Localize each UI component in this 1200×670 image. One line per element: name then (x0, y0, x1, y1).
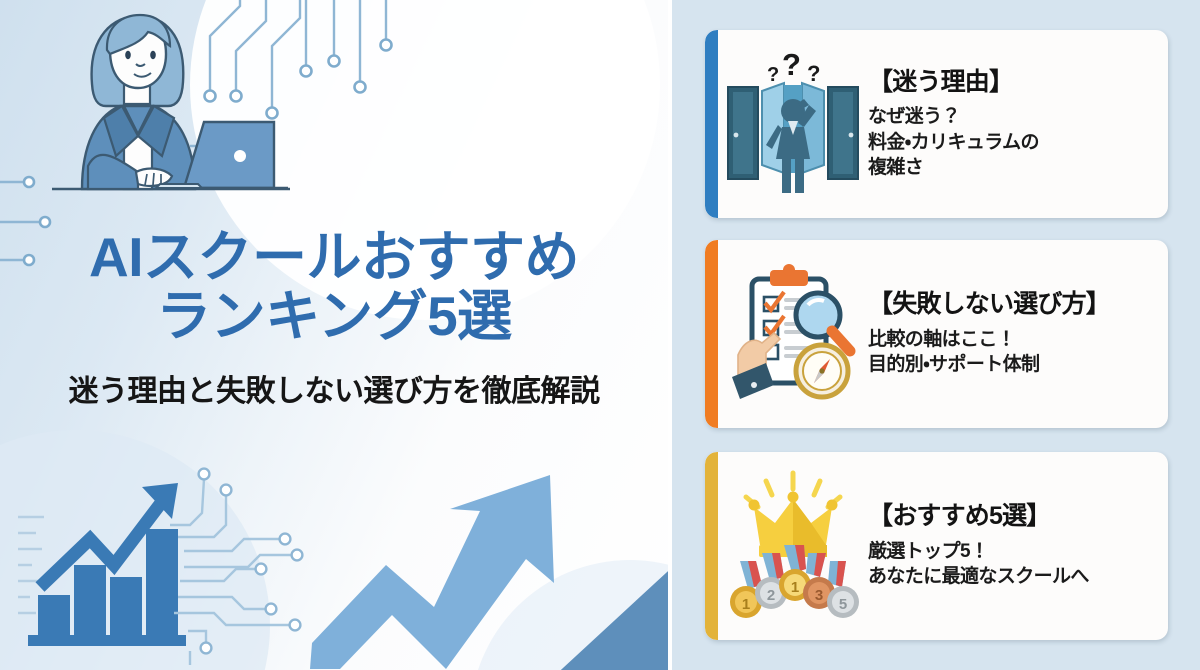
card-body-line: 複雑さ (868, 155, 1158, 180)
svg-text:?: ? (767, 64, 779, 86)
card-heading: 【おすすめ5選】 (868, 502, 1158, 532)
card-body-line: 厳選トップ5！ (868, 539, 1158, 564)
card-accent-bar (705, 452, 718, 640)
svg-text:1: 1 (742, 596, 750, 613)
card-text-block: 【失敗しない選び方】 比較の軸はここ！ 目的別・サポート体制 (868, 290, 1168, 377)
card-text-block: 【おすすめ5選】 厳選トップ5！ あなたに最適なスクールへ (868, 502, 1168, 589)
woman-with-laptop-illustration (52, 6, 290, 206)
card-heading: 【迷う理由】 (868, 68, 1158, 98)
svg-text:?: ? (807, 61, 820, 86)
card-body-line: 比較の軸はここ！ (868, 327, 1158, 352)
card-body-line: 目的別・サポート体制 (868, 352, 1158, 377)
card-heading: 【失敗しない選び方】 (868, 290, 1158, 320)
card-accent-bar (705, 240, 718, 428)
page-title-line-1: AIスクールおすすめ (0, 228, 668, 287)
card-text-block: 【迷う理由】 なぜ迷う？ 料金・カリキュラムの 複雑さ (868, 68, 1168, 180)
infographic-canvas: AIスクールおすすめ ランキング5選 迷う理由と失敗しない選び方を徹底解説 (0, 0, 1200, 670)
card-how-to-choose[interactable]: 【失敗しない選び方】 比較の軸はここ！ 目的別・サポート体制 (705, 240, 1168, 428)
card-top5[interactable]: 1 2 1 3 5 【おすすめ5選】 厳選トップ5！ (705, 452, 1168, 640)
svg-text:?: ? (782, 49, 801, 82)
hero-panel: AIスクールおすすめ ランキング5選 迷う理由と失敗しない選び方を徹底解説 (0, 0, 668, 670)
checklist-magnifier-compass-icon (718, 259, 868, 409)
svg-text:5: 5 (839, 596, 847, 613)
card-reason[interactable]: ? ? ? 【迷う理由】 なぜ迷う？ 料金・カリキュラムの 複雑さ (705, 30, 1168, 218)
bar-chart-growth-arrow-icon (18, 455, 348, 670)
page-title-line-2: ランキング5選 (0, 287, 668, 346)
hero-title-block: AIスクールおすすめ ランキング5選 迷う理由と失敗しない選び方を徹底解説 (0, 228, 668, 410)
crown-medals-icon: 1 2 1 3 5 (718, 469, 868, 624)
svg-text:2: 2 (767, 587, 775, 604)
card-body-line: なぜ迷う？ (868, 104, 1158, 129)
card-body-line: あなたに最適なスクールへ (868, 564, 1158, 589)
card-accent-bar (705, 30, 718, 218)
svg-text:1: 1 (791, 579, 799, 596)
page-subtitle: 迷う理由と失敗しない選び方を徹底解説 (0, 366, 668, 410)
cards-panel: ? ? ? 【迷う理由】 なぜ迷う？ 料金・カリキュラムの 複雑さ (672, 0, 1200, 670)
svg-text:3: 3 (815, 587, 823, 604)
confused-person-doors-icon: ? ? ? (718, 49, 868, 199)
card-body-line: 料金・カリキュラムの (868, 130, 1158, 155)
corner-wedge-decoration (300, 560, 668, 670)
